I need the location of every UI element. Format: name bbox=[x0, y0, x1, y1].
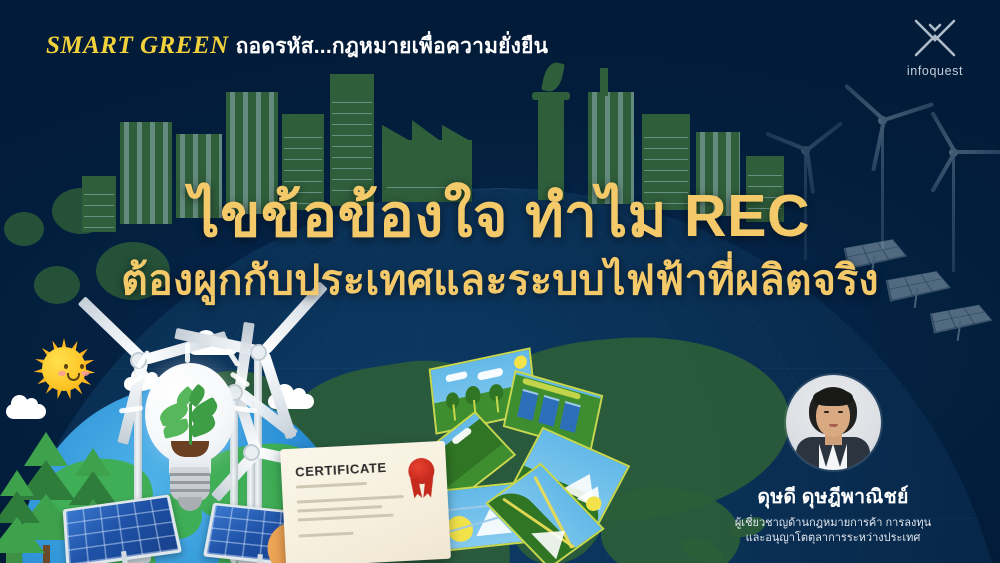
brand-smart-green: SMART GREEN bbox=[46, 32, 229, 59]
factory-roof bbox=[412, 116, 442, 142]
background-solar-panel-icon bbox=[932, 302, 988, 332]
factory-roof bbox=[442, 120, 472, 142]
building bbox=[600, 68, 608, 96]
header-tagline: ถอดรหัส...กฎหมายเพื่อความยั่งยืน bbox=[236, 35, 549, 58]
pine-tree-icon bbox=[0, 470, 46, 563]
presenter-block: ดุษดี ดุษฎีพาณิชย์ ผู้เชี่ยวชาญด้านกฎหมา… bbox=[708, 375, 958, 547]
presenter-role-line-2: และอนุญาโตตุลาการระหว่างประเทศ bbox=[708, 531, 958, 547]
cloud-icon bbox=[6, 404, 46, 419]
header-title-block: SMART GREENถอดรหัส...กฎหมายเพื่อความยั่ง… bbox=[46, 30, 548, 63]
light-bulb-with-plant-icon bbox=[141, 363, 239, 515]
infoquest-logo[interactable]: infoquest bbox=[894, 18, 976, 78]
title-line-2: ต้องผูกกับประเทศและระบบไฟฟ้าที่ผลิตจริง bbox=[0, 258, 1000, 304]
presenter-name: ดุษดี ดุษฎีพาณิชย์ bbox=[708, 481, 958, 512]
infoquest-logo-text: infoquest bbox=[894, 64, 976, 78]
leaf-icon bbox=[541, 60, 565, 93]
chimney-cap bbox=[532, 92, 570, 100]
factory-roof bbox=[382, 120, 412, 142]
red-award-seal-icon bbox=[408, 457, 435, 484]
presenter-avatar bbox=[786, 375, 881, 470]
recycle-arrows-icon bbox=[425, 354, 625, 559]
presenter-role-line-1: ผู้เชี่ยวชาญด้านกฎหมายการค้า การลงทุน bbox=[708, 516, 958, 532]
certificate-document: CERTIFICATE bbox=[280, 441, 451, 563]
x-mark-logo-icon bbox=[912, 18, 958, 58]
title-line-1: ไขข้อข้องใจ ทำไม REC bbox=[0, 185, 1000, 249]
poster-canvas: SMART GREENถอดรหัส...กฎหมายเพื่อความยั่ง… bbox=[0, 0, 1000, 563]
bulb-base bbox=[170, 467, 210, 501]
main-title-block: ไขข้อข้องใจ ทำไม REC ต้องผูกกับประเทศและ… bbox=[0, 185, 1000, 304]
sun-face bbox=[42, 347, 86, 391]
smiling-sun-icon bbox=[33, 338, 95, 400]
